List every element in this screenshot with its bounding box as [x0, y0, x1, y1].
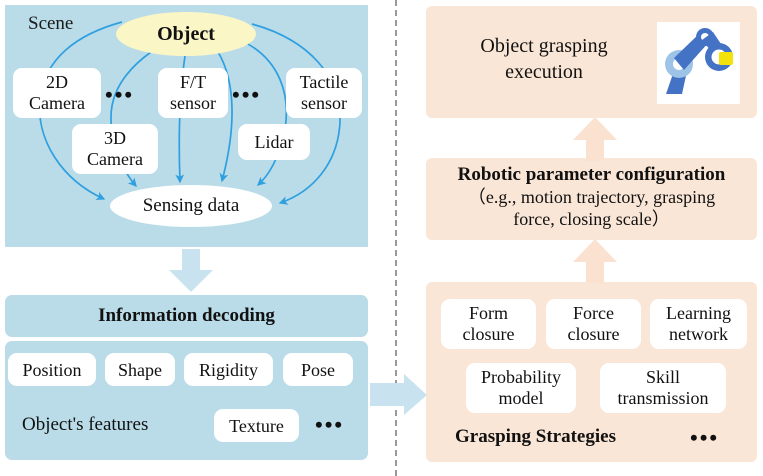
ellipsis-features: ••• — [315, 414, 344, 436]
grasping-strategies-title: Grasping Strategies — [455, 425, 616, 449]
flow-arrow-up-to-execution — [571, 117, 619, 161]
parameter-config-subtitle-line-2: force, closing scale） — [426, 208, 757, 230]
sensor-lidar-label: Lidar — [255, 132, 294, 153]
strategy-form-closure: Formclosure — [441, 299, 536, 349]
strategy-probability-model-label: Probabilitymodel — [481, 367, 561, 409]
robot-arm-icon — [657, 22, 740, 104]
feature-rigidity: Rigidity — [184, 353, 273, 386]
strategy-skill-transmission-label: Skilltransmission — [617, 367, 708, 409]
strategy-force-closure-label: Forceclosure — [568, 303, 620, 345]
parameter-config-subtitle-line-1: （e.g., motion trajectory, grasping — [426, 186, 757, 208]
sensor-2d-camera-label: 2DCamera — [29, 72, 85, 114]
feature-position: Position — [8, 353, 96, 386]
flow-arrow-right — [370, 374, 428, 416]
robotic-parameter-configuration-panel: Robotic parameter configuration （e.g., m… — [426, 158, 757, 240]
sensor-ft-sensor: F/Tsensor — [158, 68, 228, 118]
scene-label: Scene — [28, 13, 73, 35]
strategy-probability-model: Probabilitymodel — [466, 363, 576, 413]
sensor-tactile-sensor-label: Tactilesensor — [300, 72, 349, 114]
feature-pose: Pose — [283, 353, 353, 386]
sensor-3d-camera-label: 3DCamera — [87, 128, 143, 170]
object-node: Object — [116, 12, 256, 56]
strategy-learning-network-label: Learningnetwork — [666, 303, 731, 345]
exec-line-2: execution — [505, 61, 583, 83]
exec-line-1: Object grasping — [480, 35, 607, 57]
ellipsis-sensors-right: ••• — [232, 84, 261, 106]
sensor-ft-sensor-label: F/Tsensor — [170, 72, 216, 114]
object-grasping-execution-label: Object grasping execution — [446, 33, 642, 85]
sensor-lidar: Lidar — [238, 124, 310, 160]
flow-arrow-down — [160, 249, 222, 293]
objects-features-label: Object's features — [22, 413, 148, 437]
feature-texture: Texture — [214, 409, 299, 442]
strategy-learning-network: Learningnetwork — [650, 299, 747, 349]
sensor-tactile-sensor: Tactilesensor — [286, 68, 362, 118]
sensor-2d-camera: 2DCamera — [13, 68, 101, 118]
diagram-root: Scene Object 2DCamera 3DCamera F/Tsensor… — [0, 0, 763, 476]
strategy-force-closure: Forceclosure — [546, 299, 641, 349]
sensing-data-node: Sensing data — [110, 185, 272, 227]
parameter-config-title: Robotic parameter configuration — [426, 163, 757, 186]
strategy-form-closure-label: Formclosure — [463, 303, 515, 345]
ellipsis-strategies: ••• — [690, 427, 719, 449]
strategy-skill-transmission: Skilltransmission — [600, 363, 726, 413]
feature-shape: Shape — [105, 353, 175, 386]
flow-arrow-up-to-parameters — [571, 239, 619, 283]
information-decoding-header: Information decoding — [5, 295, 368, 337]
sensor-3d-camera: 3DCamera — [72, 124, 158, 174]
ellipsis-sensors-left: ••• — [105, 84, 134, 106]
